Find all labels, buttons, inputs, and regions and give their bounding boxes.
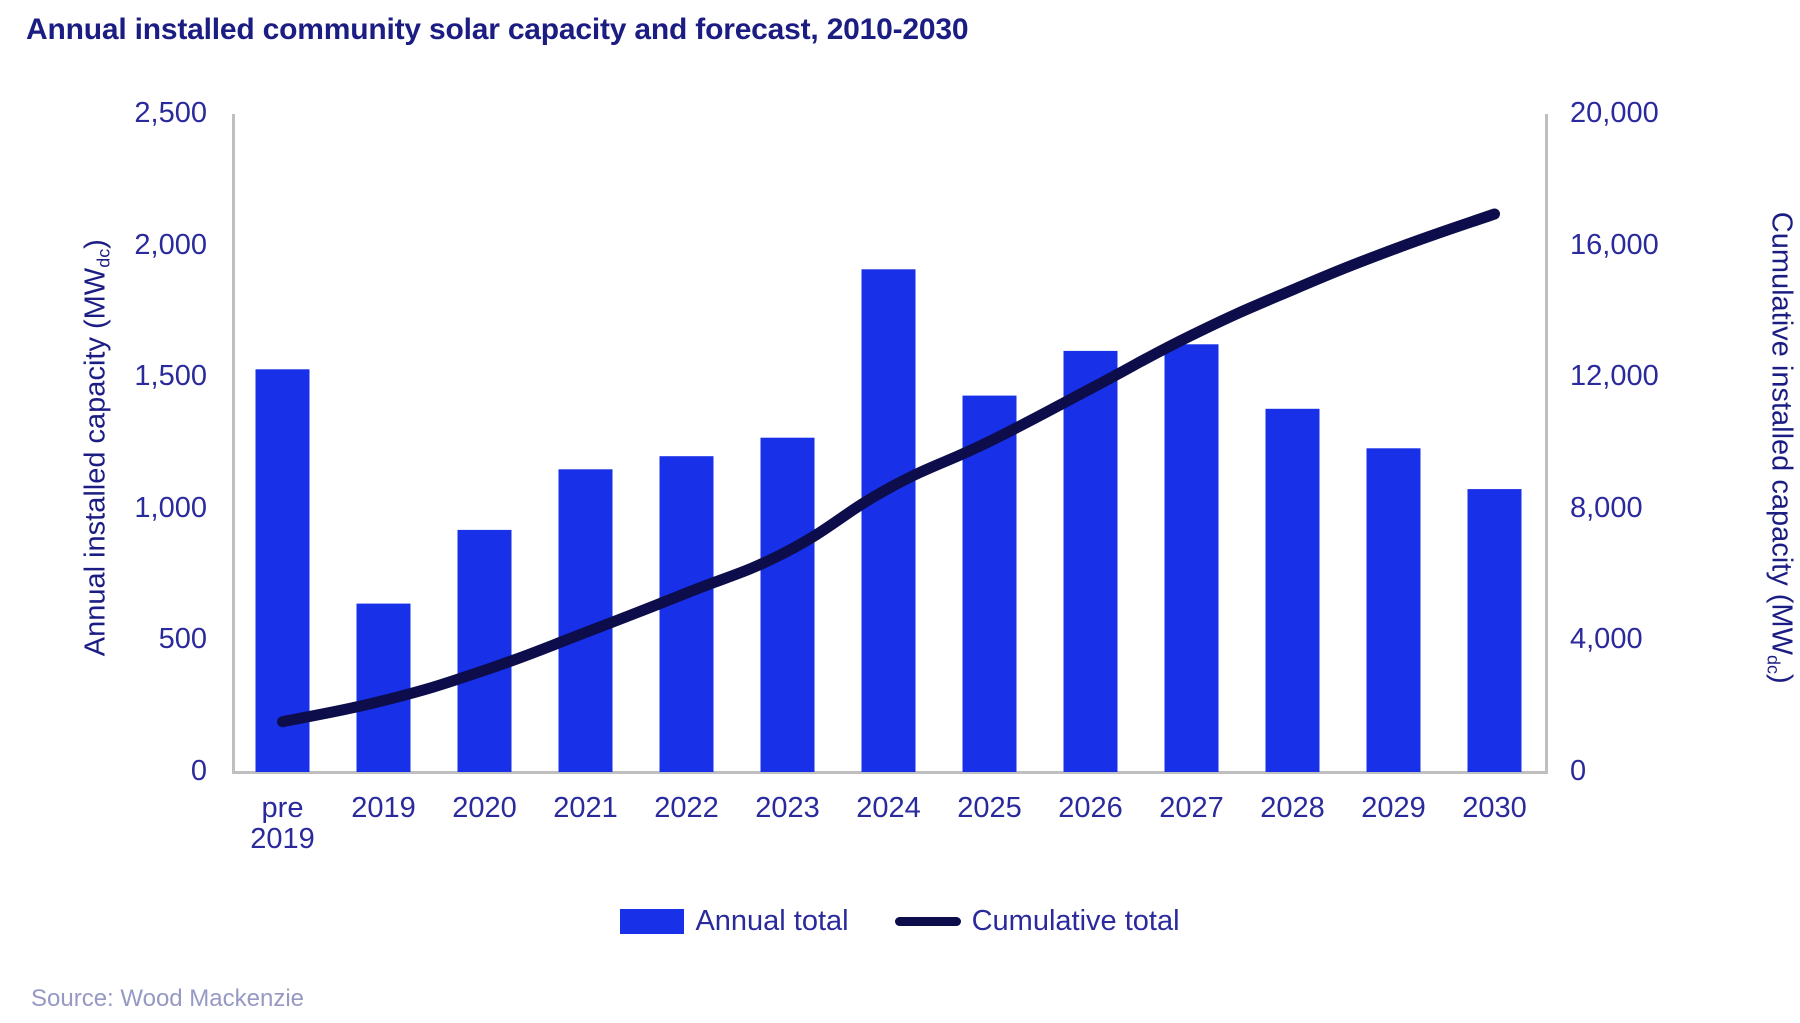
- bar-2019[interactable]: [357, 604, 411, 772]
- y-left-tick-4: 2,000: [134, 231, 207, 260]
- right-axis-line: [1545, 114, 1548, 774]
- y-left-tick-3: 1,500: [134, 362, 207, 391]
- y-left-tick-5: 2,500: [134, 99, 207, 128]
- source-note: Source: Wood Mackenzie: [31, 985, 304, 1013]
- y-left-title-main: Annual installed capacity (MW: [79, 268, 111, 656]
- y-axis-right-title: Cumulative installed capacity (MWdc): [1762, 138, 1797, 758]
- y-left-tick-2: 1,000: [134, 494, 207, 523]
- y-right-tick-1: 4,000: [1570, 625, 1643, 654]
- bar-2020[interactable]: [458, 530, 512, 772]
- bar-2022[interactable]: [660, 456, 714, 772]
- y-right-title-end: ): [1766, 674, 1798, 684]
- y-right-title-main: Cumulative installed capacity (MW: [1766, 212, 1798, 655]
- bar-pre-2019[interactable]: [256, 369, 310, 772]
- chart-page: Annual installed community solar capacit…: [0, 0, 1800, 1023]
- y-right-title-sub: dc: [1763, 655, 1783, 674]
- y-right-tick-0: 0: [1570, 757, 1586, 786]
- bar-2029[interactable]: [1367, 448, 1421, 772]
- chart-legend: Annual total Cumulative total: [0, 905, 1800, 938]
- bar-series: [256, 269, 1522, 772]
- x-tick-12: 2030: [1435, 793, 1555, 824]
- y-left-tick-1: 500: [159, 625, 207, 654]
- legend-item-annual-total[interactable]: Annual total: [620, 905, 848, 938]
- y-left-title-end: ): [79, 239, 111, 249]
- legend-line-swatch-icon: [895, 917, 961, 926]
- y-left-title-sub: dc: [94, 249, 114, 268]
- y-right-tick-5: 20,000: [1570, 99, 1659, 128]
- bar-2030[interactable]: [1468, 489, 1522, 772]
- chart-canvas: [232, 114, 1545, 772]
- plot-area: [232, 114, 1545, 772]
- bar-2026[interactable]: [1064, 351, 1118, 772]
- bar-2023[interactable]: [761, 438, 815, 772]
- page-title: Annual installed community solar capacit…: [26, 13, 968, 47]
- bar-2027[interactable]: [1165, 344, 1219, 772]
- bar-2028[interactable]: [1266, 409, 1320, 772]
- legend-label-cumulative-total: Cumulative total: [972, 905, 1180, 938]
- legend-item-cumulative-total[interactable]: Cumulative total: [895, 905, 1180, 938]
- y-axis-left-title: Annual installed capacity (MWdc): [79, 168, 114, 728]
- y-left-tick-0: 0: [191, 757, 207, 786]
- bar-2024[interactable]: [862, 269, 916, 772]
- y-right-tick-3: 12,000: [1570, 362, 1659, 391]
- legend-label-annual-total: Annual total: [695, 905, 848, 938]
- legend-bar-swatch-icon: [620, 909, 684, 934]
- y-right-tick-4: 16,000: [1570, 231, 1659, 260]
- y-right-tick-2: 8,000: [1570, 494, 1643, 523]
